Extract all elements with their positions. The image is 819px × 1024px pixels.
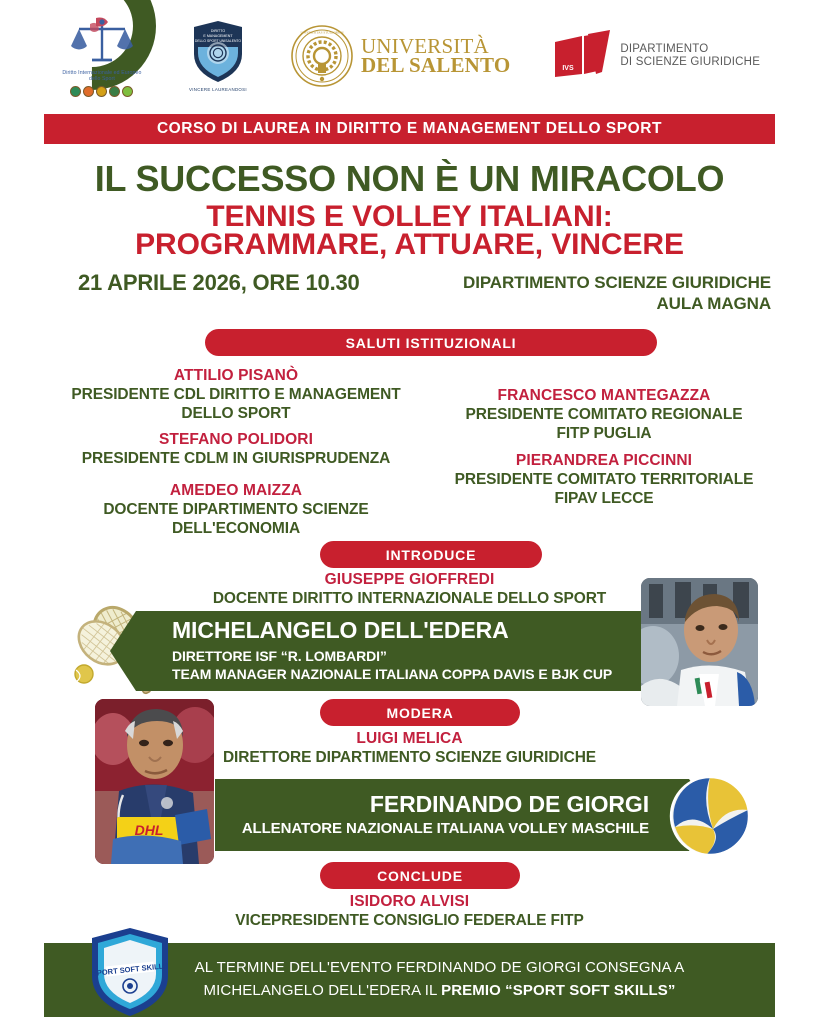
- footer-line2: MICHELANGELO DELL'EDERA IL PREMIO “SPORT…: [195, 980, 685, 1003]
- unisalento-wordmark: UNIVERSITÀ DEL SALENTO: [361, 37, 510, 76]
- guest-role-line1: DIRETTORE ISF “R. LOMBARDI”: [172, 647, 680, 665]
- dipartimento-line2: DI SCIENZE GIURIDICHE: [620, 56, 760, 69]
- dies-logo: Diritto Internazionale ed Europeo dello …: [59, 16, 145, 97]
- section-pill-conclude: CONCLUDE: [320, 862, 520, 889]
- footer-line1: AL TERMINE DELL'EVENTO FERDINANDO DE GIO…: [195, 957, 685, 980]
- svg-text:UNIVERSITAS STUDIORUM: UNIVERSITAS STUDIORUM: [300, 31, 343, 35]
- logo-strip: Diritto Internazionale ed Europeo dello …: [0, 8, 819, 104]
- unisalento-seal-icon: UNIVERSITAS STUDIORUM: [291, 25, 353, 87]
- volleyball-decoration: [669, 775, 751, 857]
- shield-logo-motto: VINCERE LAUREANDOSI: [189, 87, 247, 92]
- shield-icon: DIRITTO E MANAGEMENT DELLO SPORT UNISALE…: [192, 20, 244, 84]
- diritto-management-sport-shield-logo: DIRITTO E MANAGEMENT DELLO SPORT UNISALE…: [187, 20, 249, 92]
- sport-soft-skills-badge: SPORT SOFT SKILLS: [88, 926, 172, 1018]
- speaker-name: ISIDORO ALVISI: [0, 892, 819, 912]
- ferdinando-de-giorgi-portrait: DHL: [95, 699, 214, 864]
- event-venue: DIPARTIMENTO SCIENZE GIURIDICHE AULA MAG…: [463, 272, 771, 315]
- section-pill-introduce-label: INTRODUCE: [386, 547, 476, 563]
- guest-name: MICHELANGELO DELL'EDERA: [172, 618, 680, 643]
- guest-role-line1: ALLENATORE NAZIONALE ITALIANA VOLLEY MAS…: [242, 819, 649, 839]
- course-title-bar: CORSO DI LAUREA IN DIRITTO E MANAGEMENT …: [44, 114, 775, 144]
- guest-band-de-giorgi: FERDINANDO DE GIORGI ALLENATORE NAZIONAL…: [215, 779, 715, 851]
- open-book-icon: IVS: [552, 30, 614, 82]
- svg-text:E MANAGEMENT: E MANAGEMENT: [203, 34, 233, 38]
- speaker-name: STEFANO POLIDORI: [36, 430, 436, 450]
- dies-sport-balls-icon: [70, 86, 133, 97]
- guest-band-dell-edera: MICHELANGELO DELL'EDERA DIRETTORE ISF “R…: [110, 611, 680, 691]
- speaker-role: DOCENTE DIPARTIMENTO SCIENZE DELL'ECONOM…: [36, 501, 436, 539]
- course-title-label: CORSO DI LAUREA IN DIRITTO E MANAGEMENT …: [157, 120, 662, 138]
- dipartimento-line1: DIPARTIMENTO: [620, 43, 760, 56]
- footer-line2-strong: PREMIO “SPORT SOFT SKILLS”: [441, 982, 675, 999]
- section-pill-saluti: SALUTI ISTITUZIONALI: [205, 329, 657, 356]
- svg-text:DELLO SPORT UNISALENTO: DELLO SPORT UNISALENTO: [195, 39, 242, 43]
- svg-text:IVS: IVS: [563, 65, 575, 72]
- speaker-francesco-mantegazza: FRANCESCO MANTEGAZZA PRESIDENTE COMITATO…: [404, 386, 804, 444]
- unisalento-line2: DEL SALENTO: [361, 56, 510, 75]
- speaker-name: AMEDEO MAIZZA: [36, 481, 436, 501]
- speaker-role: PRESIDENTE CDL DIRITTO E MANAGEMENT DELL…: [36, 386, 436, 424]
- guest-role-line2: TEAM MANAGER NAZIONALE ITALIANA COPPA DA…: [172, 665, 680, 683]
- poster-title-line1: IL SUCCESSO NON È UN MIRACOLO: [0, 158, 819, 200]
- dipartimento-scienze-giuridiche-logo: IVS DIPARTIMENTO DI SCIENZE GIURIDICHE: [552, 30, 760, 82]
- michelangelo-dell-edera-portrait: [641, 578, 758, 706]
- speaker-role: PRESIDENTE COMITATO TERRITORIALE FIPAV L…: [404, 471, 804, 509]
- section-pill-modera: MODERA: [320, 699, 520, 726]
- speaker-role: PRESIDENTE CDLM IN GIURISPRUDENZA: [36, 450, 436, 469]
- footer-text: AL TERMINE DELL'EVENTO FERDINANDO DE GIO…: [135, 957, 685, 1003]
- poster-title-line3: PROGRAMMARE, ATTUARE, VINCERE: [0, 228, 819, 262]
- speaker-name: FRANCESCO MANTEGAZZA: [404, 386, 804, 406]
- dipartimento-wordmark: DIPARTIMENTO DI SCIENZE GIURIDICHE: [620, 43, 760, 69]
- footer-line2-plain: MICHELANGELO DELL'EDERA IL: [204, 982, 442, 999]
- scales-of-justice-icon: [66, 16, 138, 68]
- speaker-attilio-pisano: ATTILIO PISANÒ PRESIDENTE CDL DIRITTO E …: [36, 366, 436, 424]
- speaker-name: PIERANDREA PICCINNI: [404, 451, 804, 471]
- event-venue-line2: AULA MAGNA: [463, 293, 771, 314]
- speaker-name: ATTILIO PISANÒ: [36, 366, 436, 386]
- guest-name: FERDINANDO DE GIORGI: [370, 792, 649, 817]
- event-poster: Diritto Internazionale ed Europeo dello …: [0, 0, 819, 1024]
- section-pill-saluti-label: SALUTI ISTITUZIONALI: [346, 335, 517, 351]
- section-pill-modera-label: MODERA: [386, 705, 453, 721]
- speaker-pierandrea-piccinni: PIERANDREA PICCINNI PRESIDENTE COMITATO …: [404, 451, 804, 509]
- section-pill-introduce: INTRODUCE: [320, 541, 542, 568]
- svg-text:DIRITTO: DIRITTO: [211, 29, 226, 33]
- speaker-stefano-polidori: STEFANO POLIDORI PRESIDENTE CDLM IN GIUR…: [36, 430, 436, 469]
- speaker-role: PRESIDENTE COMITATO REGIONALE FITP PUGLI…: [404, 406, 804, 444]
- dies-logo-caption: Diritto Internazionale ed Europeo dello …: [59, 70, 145, 83]
- speaker-amedeo-maizza: AMEDEO MAIZZA DOCENTE DIPARTIMENTO SCIEN…: [36, 481, 436, 539]
- event-date: 21 APRILE 2026, ORE 10.30: [78, 270, 360, 296]
- event-venue-line1: DIPARTIMENTO SCIENZE GIURIDICHE: [463, 272, 771, 293]
- section-pill-conclude-label: CONCLUDE: [377, 868, 463, 884]
- universita-del-salento-logo: UNIVERSITAS STUDIORUM UNIVERSITÀ DEL SAL…: [291, 25, 510, 87]
